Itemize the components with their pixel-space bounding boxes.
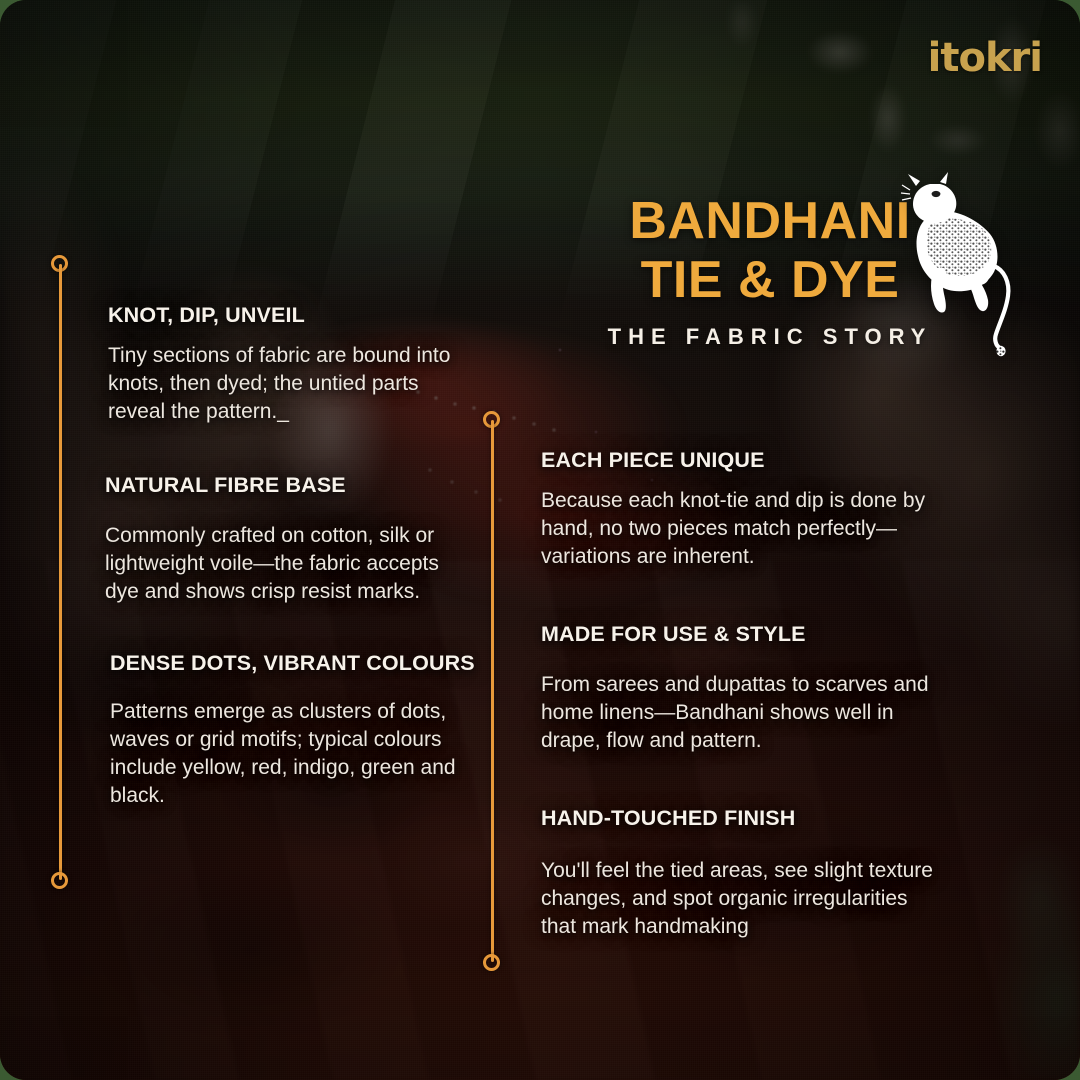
fact-heading: DENSE DOTS, VIBRANT COLOURS — [110, 650, 475, 676]
fact-block: KNOT, DIP, UNVEIL Tiny sections of fabri… — [105, 302, 475, 426]
fact-block: EACH PIECE UNIQUE Because each knot-tie … — [541, 447, 943, 571]
fact-block: NATURAL FIBRE BASE Commonly crafted on c… — [105, 472, 475, 606]
fact-body: Because each knot-tie and dip is done by… — [541, 487, 943, 571]
fact-heading: MADE FOR USE & STYLE — [541, 621, 943, 647]
infographic-poster: itokri BANDHANI TIE & DYE THE FABRIC STO… — [0, 0, 1080, 1080]
timeline-left — [51, 255, 69, 889]
timeline-right-rail — [491, 420, 494, 962]
timeline-right-end-dot-icon — [483, 954, 500, 971]
fact-body: You'll feel the tied areas, see slight t… — [541, 857, 943, 941]
fact-heading: NATURAL FIBRE BASE — [105, 472, 475, 498]
right-content-column: EACH PIECE UNIQUE Because each knot-tie … — [541, 447, 943, 949]
fact-body: Commonly crafted on cotton, silk or ligh… — [105, 522, 475, 606]
fact-block: MADE FOR USE & STYLE From sarees and dup… — [541, 621, 943, 755]
goat-illustration — [900, 170, 1020, 360]
fact-body: Tiny sections of fabric are bound into k… — [108, 342, 475, 426]
fact-block: HAND-TOUCHED FINISH You'll feel the tied… — [541, 805, 943, 941]
fact-heading: HAND-TOUCHED FINISH — [541, 805, 943, 831]
fact-body: From sarees and dupattas to scarves and … — [541, 671, 943, 755]
itokri-logo[interactable]: itokri — [928, 38, 1042, 78]
timeline-right — [483, 411, 501, 971]
fact-heading: EACH PIECE UNIQUE — [541, 447, 943, 473]
left-content-column: KNOT, DIP, UNVEIL Tiny sections of fabri… — [105, 302, 475, 818]
fact-block: DENSE DOTS, VIBRANT COLOURS Patterns eme… — [105, 650, 475, 810]
timeline-left-end-dot-icon — [51, 872, 68, 889]
fact-heading: KNOT, DIP, UNVEIL — [108, 302, 475, 328]
fact-body: Patterns emerge as clusters of dots, wav… — [110, 698, 475, 810]
timeline-left-rail — [59, 264, 62, 880]
